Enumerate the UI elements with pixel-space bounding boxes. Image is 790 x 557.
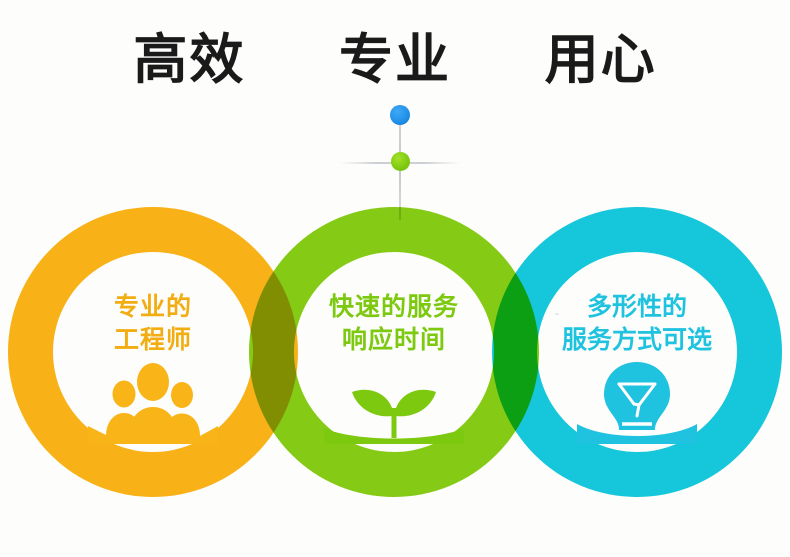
feature-caption-line1: 快速的服务 — [291, 290, 497, 323]
feature-caption-line1: 多形性的 — [534, 290, 740, 323]
feature-caption-engineers: 专业的 工程师 — [50, 290, 256, 356]
poster-canvas: 高效 专业 用心 专业的 工程师 — [0, 0, 790, 557]
feature-caption-line2: 响应时间 — [291, 323, 497, 356]
background-speck — [555, 313, 559, 315]
people-icon — [50, 358, 256, 444]
feature-panel-service-modes: 多形性的 服务方式可选 — [534, 234, 740, 440]
page-title: 高效 专业 用心 — [0, 28, 790, 92]
feature-panel-engineers: 专业的 工程师 — [50, 234, 256, 440]
venn-diagram: 专业的 工程师 — [0, 190, 790, 520]
feature-panel-response-time: 快速的服务 响应时间 — [291, 234, 497, 440]
feature-caption-line2: 工程师 — [50, 323, 256, 356]
feature-caption-line1: 专业的 — [50, 290, 256, 323]
sprout-icon — [291, 358, 497, 444]
headline-segment-1: 高效 — [133, 28, 245, 92]
headline-segment-3: 用心 — [545, 28, 657, 92]
headline-segment-2: 专业 — [339, 28, 451, 92]
green-dot — [391, 152, 410, 171]
feature-caption-service-modes: 多形性的 服务方式可选 — [534, 290, 740, 356]
blue-dot — [390, 105, 410, 125]
feature-caption-line2: 服务方式可选 — [534, 323, 740, 356]
feature-caption-response-time: 快速的服务 响应时间 — [291, 290, 497, 356]
lightbulb-icon — [534, 358, 740, 444]
